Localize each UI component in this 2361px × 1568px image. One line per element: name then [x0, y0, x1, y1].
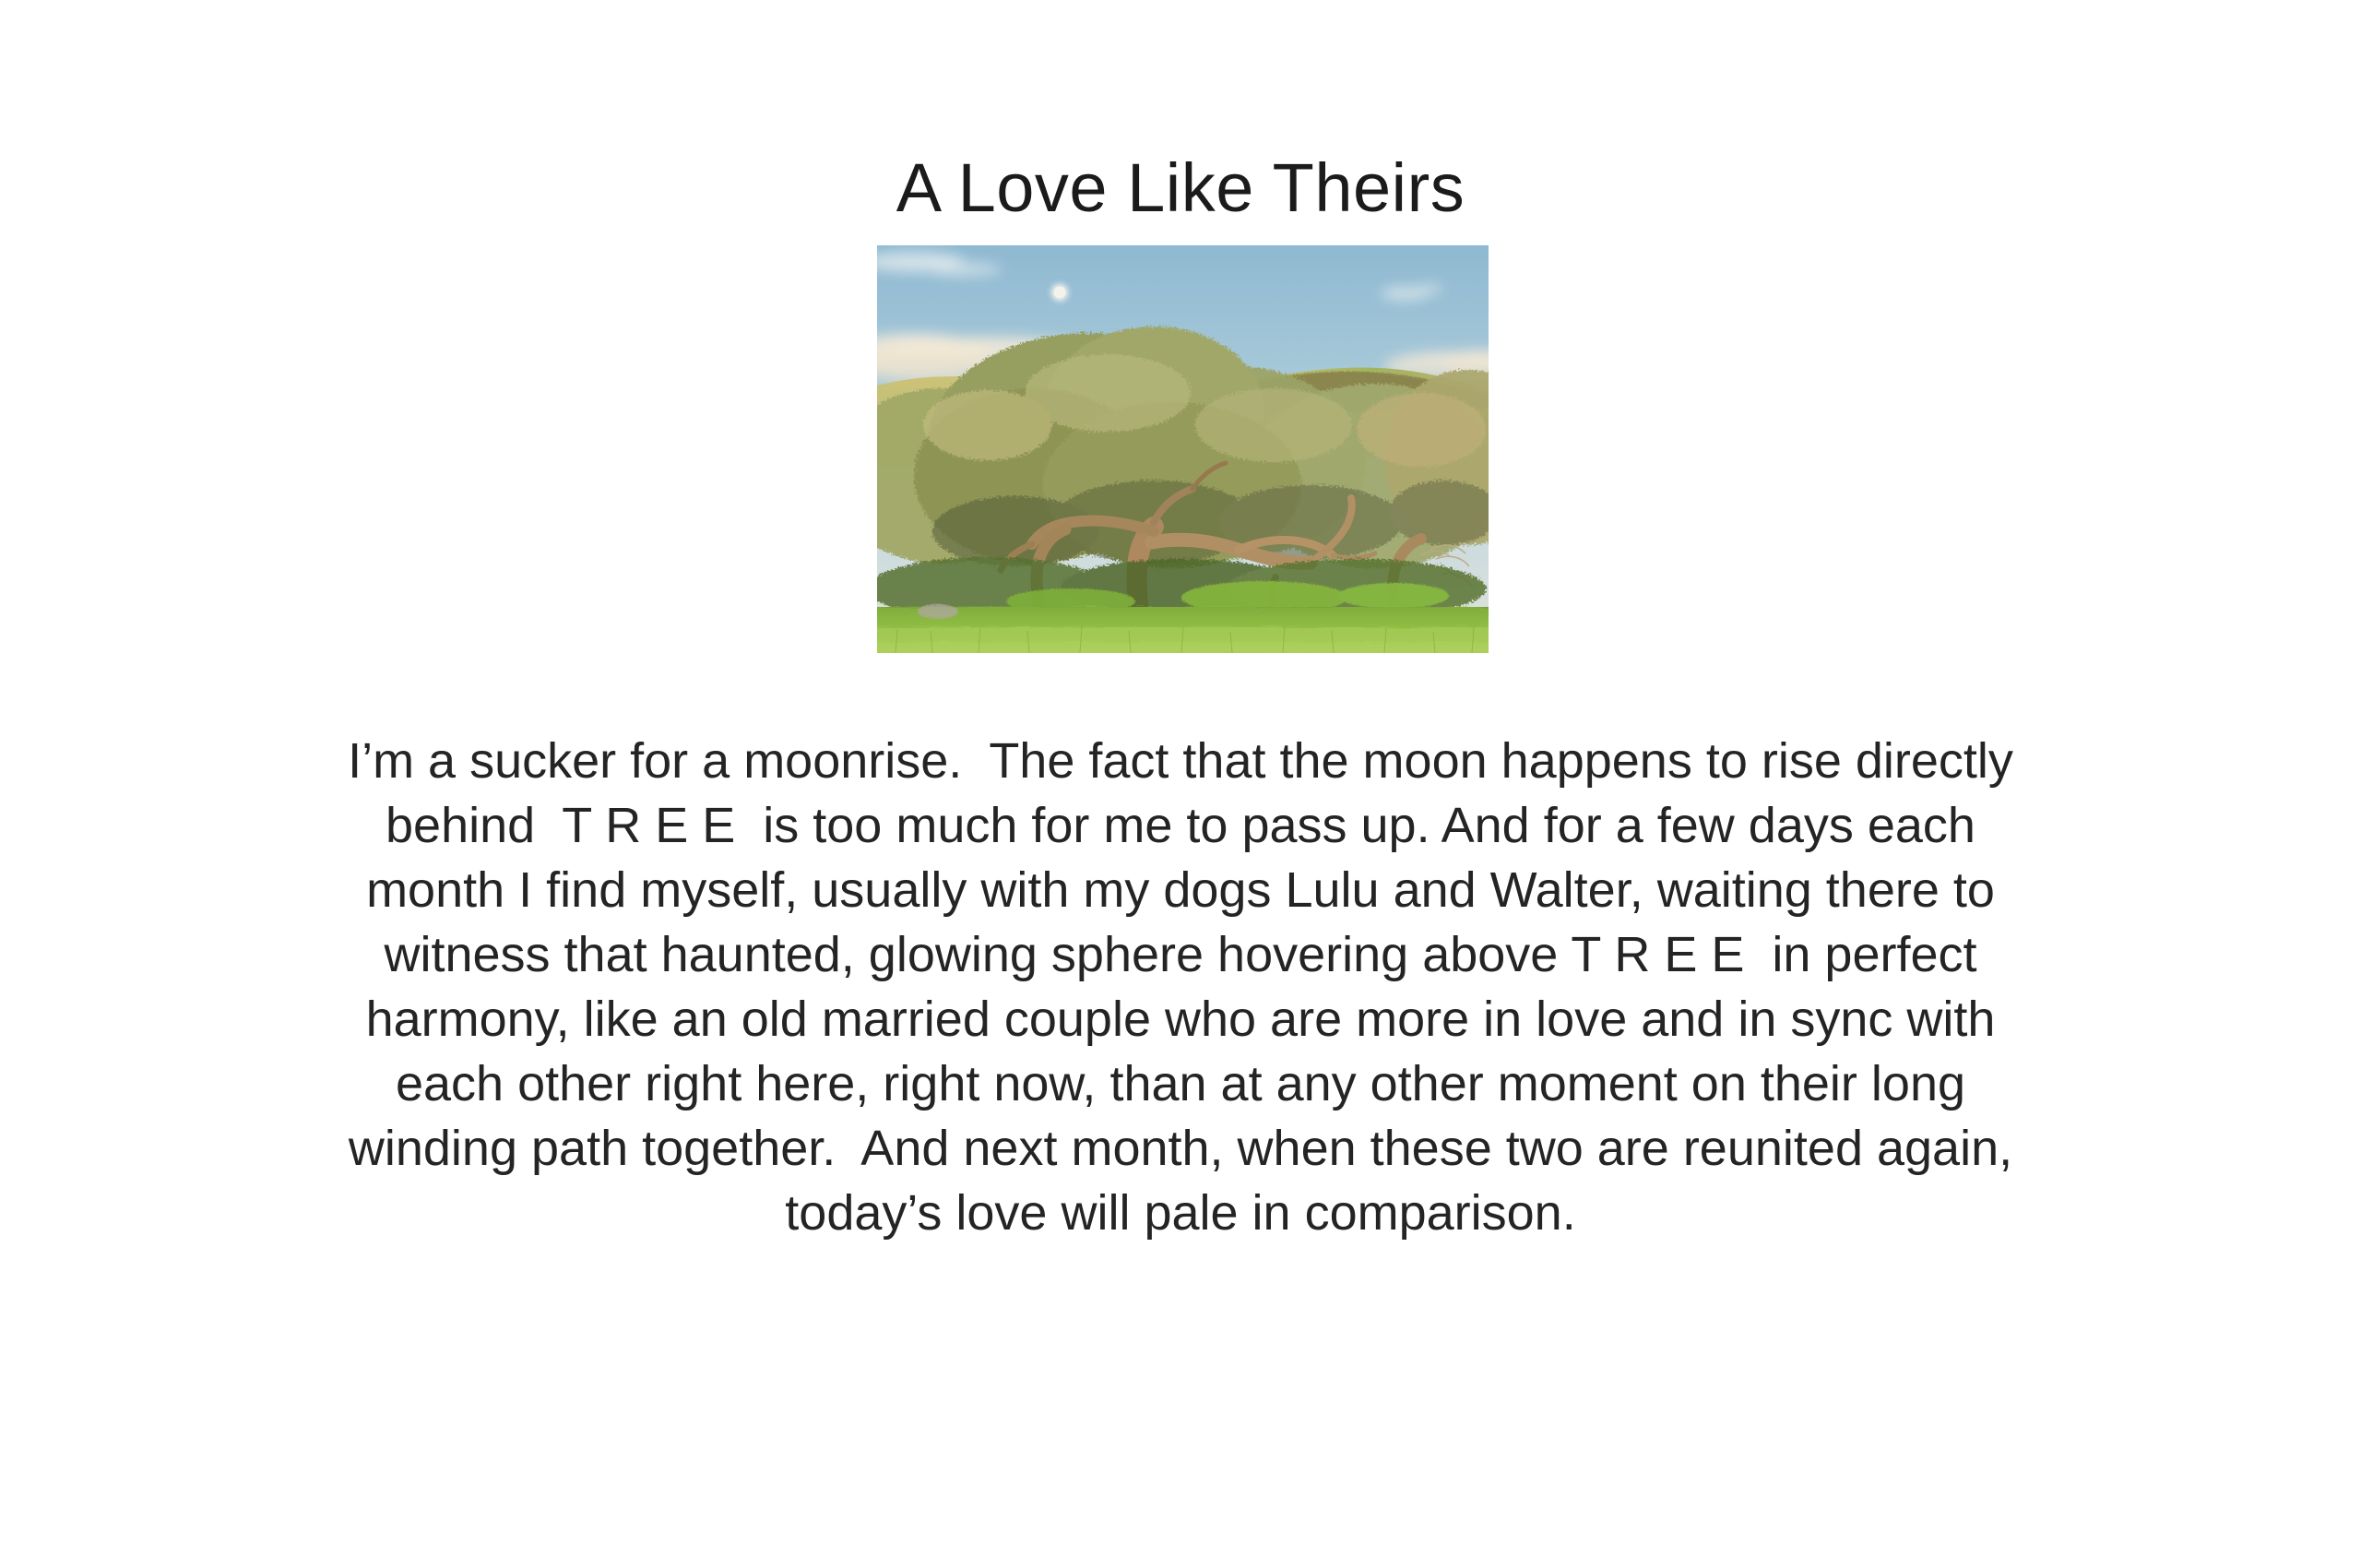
body-line: today’s love will pale in comparison.	[148, 1181, 2213, 1245]
body-copy: I’m a sucker for a moonrise. The fact th…	[148, 729, 2213, 1245]
body-line: each other right here, right now, than a…	[148, 1051, 2213, 1116]
body-line: behind T R E E is too much for me to pas…	[148, 793, 2213, 858]
slide-page: A Love Like Theirs	[0, 0, 2361, 1568]
body-line: I’m a sucker for a moonrise. The fact th…	[148, 729, 2213, 793]
oak-tree-at-moonrise-photograph	[877, 245, 1489, 653]
warm-light-wash	[877, 245, 1489, 653]
body-line: winding path together. And next month, w…	[148, 1116, 2213, 1181]
body-line: witness that haunted, glowing sphere hov…	[148, 922, 2213, 987]
page-title: A Love Like Theirs	[0, 149, 2361, 227]
body-line: month I find myself, usually with my dog…	[148, 858, 2213, 922]
photo-illustration	[877, 245, 1489, 653]
body-line: harmony, like an old married couple who …	[148, 987, 2213, 1051]
